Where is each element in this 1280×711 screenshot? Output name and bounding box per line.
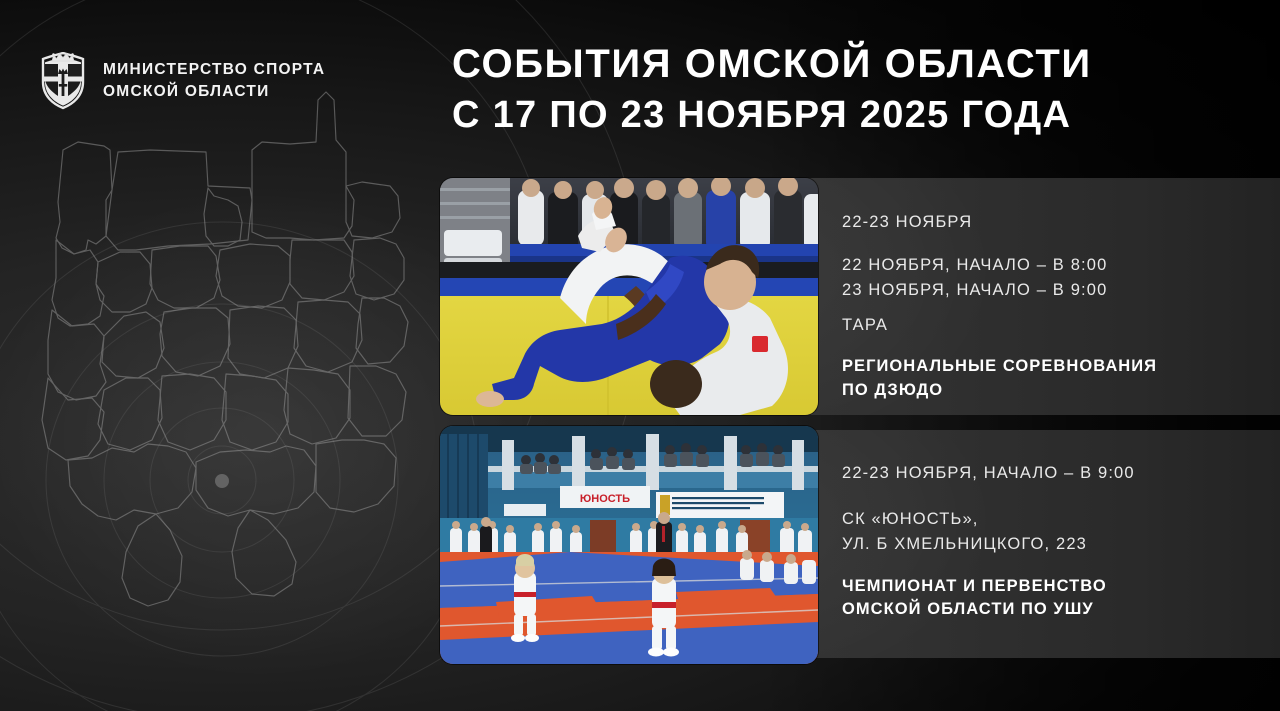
ministry-brand: МИНИСТЕРСТВО СПОРТА ОМСКОЙ ОБЛАСТИ bbox=[38, 52, 325, 110]
svg-text:ЮНОСТЬ: ЮНОСТЬ bbox=[580, 493, 630, 505]
events-poster: МИНИСТЕРСТВО СПОРТА ОМСКОЙ ОБЛАСТИ СОБЫТ… bbox=[0, 0, 1280, 711]
page-title-line1: СОБЫТИЯ ОМСКОЙ ОБЛАСТИ bbox=[452, 44, 1092, 86]
judo-match-photo bbox=[440, 178, 818, 415]
omsk-oblast-coat-of-arms-icon bbox=[38, 52, 88, 110]
event-card-wushu[interactable]: ЮНОСТЬ bbox=[0, 430, 1280, 658]
event-dates: 22-23 НОЯБРЯ bbox=[842, 210, 1157, 234]
event-title: РЕГИОНАЛЬНЫЕ СОРЕВНОВАНИЯ ПО ДЗЮДО bbox=[842, 355, 1157, 403]
event-info-judo: 22-23 НОЯБРЯ 22 НОЯБРЯ, НАЧАЛО – В 8:00 … bbox=[842, 210, 1157, 402]
event-place: СК «ЮНОСТЬ», УЛ. Б ХМЕЛЬНИЦКОГО, 223 bbox=[842, 507, 1135, 557]
page-title-line2: С 17 ПО 23 НОЯБРЯ 2025 ГОДА bbox=[452, 95, 1092, 136]
event-dates: 22-23 НОЯБРЯ, НАЧАЛО – В 9:00 bbox=[842, 461, 1135, 485]
event-card-judo[interactable]: 22-23 НОЯБРЯ 22 НОЯБРЯ, НАЧАЛО – В 8:00 … bbox=[0, 178, 1280, 415]
poster-header: МИНИСТЕРСТВО СПОРТА ОМСКОЙ ОБЛАСТИ СОБЫТ… bbox=[0, 0, 1280, 168]
wushu-competition-photo: ЮНОСТЬ bbox=[440, 426, 818, 664]
event-place: ТАРА bbox=[842, 313, 1157, 338]
event-times: 22 НОЯБРЯ, НАЧАЛО – В 8:00 23 НОЯБРЯ, НА… bbox=[842, 253, 1157, 303]
event-info-wushu: 22-23 НОЯБРЯ, НАЧАЛО – В 9:00 СК «ЮНОСТЬ… bbox=[842, 461, 1135, 622]
ministry-name: МИНИСТЕРСТВО СПОРТА ОМСКОЙ ОБЛАСТИ bbox=[103, 59, 325, 103]
event-title: ЧЕМПИОНАТ И ПЕРВЕНСТВО ОМСКОЙ ОБЛАСТИ ПО… bbox=[842, 575, 1135, 623]
page-title: СОБЫТИЯ ОМСКОЙ ОБЛАСТИ С 17 ПО 23 НОЯБРЯ… bbox=[452, 44, 1092, 136]
